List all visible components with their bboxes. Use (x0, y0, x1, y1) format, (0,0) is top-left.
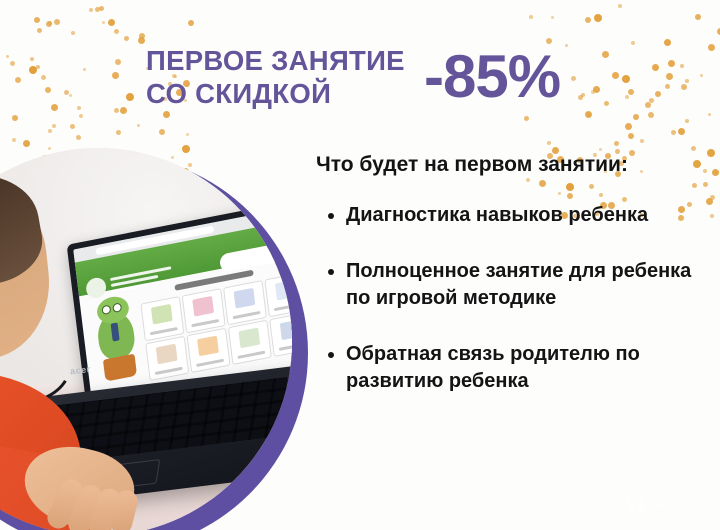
confetti-dot (36, 65, 40, 69)
confetti-dot (665, 84, 670, 89)
confetti-dot (664, 39, 671, 46)
lesson-card (269, 312, 292, 357)
confetti-dot (77, 106, 81, 110)
confetti-dot (645, 102, 651, 108)
list-item-label: Полноценное занятие для ребенка по игров… (346, 260, 691, 309)
bullet-dot-icon (328, 213, 334, 219)
confetti-dot (685, 79, 689, 83)
discount-badge: -85% (424, 46, 560, 108)
confetti-dot (95, 7, 100, 12)
confetti-dot (116, 130, 121, 135)
confetti-dot (10, 61, 15, 66)
list-item: Диагностика навыков ребенка (316, 202, 708, 229)
confetti-dot (71, 31, 75, 35)
confetti-dot (648, 112, 654, 118)
confetti-dot (70, 124, 75, 129)
lesson-card (182, 288, 226, 333)
list-item: Обратная связь родителю по развитию ребе… (316, 341, 708, 395)
confetti-dot (529, 15, 533, 19)
confetti-dot (37, 28, 42, 33)
lesson-card-caption (233, 311, 261, 319)
bullet-dot-icon (328, 352, 334, 358)
confetti-dot (51, 104, 58, 111)
photo-inner: acer (0, 148, 292, 530)
confetti-dot (52, 124, 56, 128)
headline-line-2: СО СКИДКОЙ (146, 77, 436, 110)
confetti-dot (640, 139, 644, 143)
avito-watermark: Avito (626, 492, 704, 516)
lesson-card (145, 336, 189, 381)
headline-lines: ПЕРВОЕ ЗАНЯТИЕ СО СКИДКОЙ (146, 44, 436, 110)
lesson-card (228, 320, 272, 365)
confetti-dot (666, 73, 673, 80)
confetti-dot (76, 135, 81, 140)
confetti-dot (41, 75, 46, 80)
avito-dots-icon (626, 494, 648, 514)
confetti-dot (691, 146, 696, 151)
confetti-dot (695, 14, 701, 20)
confetti-dot (12, 138, 16, 142)
confetti-dot (700, 74, 703, 77)
confetti-dot (15, 77, 21, 83)
confetti-dot (12, 115, 18, 121)
confetti-dot (79, 114, 83, 118)
list-item-label: Диагностика навыков ребенка (346, 204, 648, 226)
confetti-dot (115, 59, 121, 65)
lesson-card-caption (150, 327, 178, 335)
confetti-dot (54, 19, 60, 25)
confetti-dot (631, 41, 635, 45)
confetti-dot (710, 214, 714, 218)
confetti-dot (678, 128, 685, 135)
confetti-dot (708, 44, 715, 51)
confetti-dot (102, 21, 105, 24)
content-question: Что будет на первом занятии: (316, 152, 708, 178)
bullet-dot-icon (328, 269, 334, 275)
confetti-dot (625, 95, 629, 99)
confetti-dot (99, 6, 104, 11)
confetti-dot (34, 17, 40, 23)
lesson-card-caption (191, 319, 219, 327)
lesson-card-caption (237, 351, 265, 359)
confetti-dot (625, 123, 632, 130)
confetti-dot (126, 93, 134, 101)
confetti-dot (112, 72, 119, 79)
benefits-list: Диагностика навыков ребенка Полноценное … (316, 202, 708, 395)
confetti-dot (69, 94, 72, 97)
confetti-dot (622, 75, 630, 83)
confetti-dot (89, 8, 93, 12)
confetti-dot (29, 66, 37, 74)
lesson-card-thumb-icon (234, 288, 256, 309)
lesson-card-caption (279, 343, 292, 351)
student-photo: acer (0, 148, 292, 530)
confetti-dot (139, 33, 145, 39)
lesson-card-thumb-icon (280, 320, 292, 341)
confetti-dot (671, 130, 676, 135)
lesson-card-thumb-icon (275, 280, 292, 301)
confetti-dot (48, 129, 52, 133)
confetti-dot (585, 17, 591, 23)
lesson-card-thumb-icon (192, 296, 214, 317)
confetti-dot (628, 133, 634, 139)
confetti-dot (707, 149, 715, 157)
content-column: Что будет на первом занятии: Диагностика… (316, 152, 708, 395)
confetti-dot (547, 141, 551, 145)
list-item-label: Обратная связь родителю по развитию ребе… (346, 343, 640, 392)
confetti-dot (710, 195, 715, 200)
confetti-dot (633, 114, 639, 120)
confetti-dot (599, 148, 602, 151)
confetti-dot (64, 90, 69, 95)
confetti-dot (618, 4, 622, 8)
confetti-dot (680, 64, 684, 68)
lesson-card (223, 280, 267, 325)
confetti-dot (120, 107, 127, 114)
lesson-card-thumb-icon (151, 304, 173, 325)
lesson-card (187, 328, 231, 373)
lesson-card-caption (274, 303, 292, 311)
confetti-dot (614, 141, 619, 146)
confetti-dot (30, 57, 34, 61)
confetti-dot (138, 37, 145, 44)
confetti-dot (708, 113, 711, 116)
confetti-dot (23, 140, 30, 147)
lesson-card (140, 296, 184, 341)
photo-circle-wrap: acer (0, 148, 314, 530)
confetti-dot (712, 169, 719, 176)
lesson-card-caption (155, 367, 183, 375)
confetti-dot (46, 21, 52, 27)
confetti-dot (6, 55, 9, 58)
confetti-dot (83, 68, 86, 71)
confetti-dot (551, 16, 554, 19)
confetti-dot (655, 91, 661, 97)
confetti-dot (137, 124, 140, 127)
confetti-dot (681, 84, 687, 90)
confetti-dot (108, 19, 115, 26)
confetti-dot (114, 29, 119, 34)
confetti-dot (114, 108, 119, 113)
lesson-card-thumb-icon (197, 336, 219, 357)
avito-watermark-label: Avito (653, 492, 704, 516)
confetti-dot (48, 21, 52, 25)
confetti-dot (652, 64, 659, 71)
lesson-card-thumb-icon (238, 328, 260, 349)
headline-block: ПЕРВОЕ ЗАНЯТИЕ СО СКИДКОЙ -85% (146, 44, 616, 134)
confetti-dot (124, 36, 129, 41)
confetti-dot (45, 87, 51, 93)
confetti-dot (685, 119, 689, 123)
headline-line-1: ПЕРВОЕ ЗАНЯТИЕ (146, 44, 436, 77)
promo-banner: ПЕРВОЕ ЗАНЯТИЕ СО СКИДКОЙ -85% Что будет… (0, 0, 720, 530)
confetti-dot (649, 98, 654, 103)
lesson-card-caption (196, 359, 224, 367)
list-item: Полноценное занятие для ребенка по игров… (316, 258, 708, 312)
confetti-dot (668, 60, 675, 67)
confetti-dot (188, 20, 194, 26)
lesson-card-thumb-icon (156, 344, 178, 365)
confetti-dot (628, 89, 634, 95)
confetti-dot (594, 14, 602, 22)
lesson-card (264, 272, 292, 317)
